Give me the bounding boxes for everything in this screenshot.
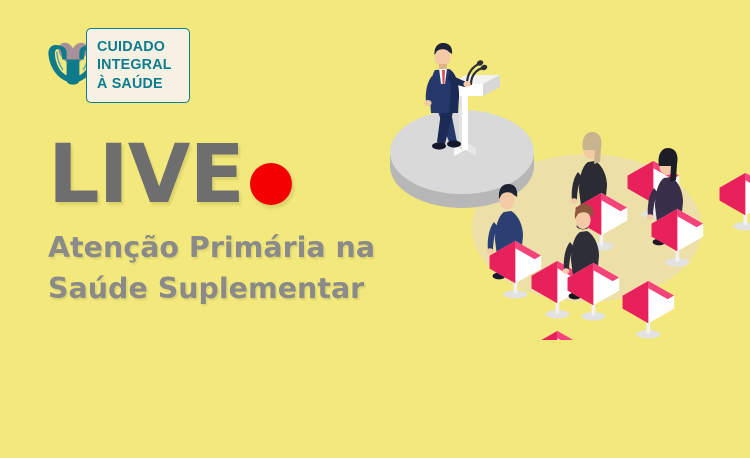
logo-line-1: CUIDADO xyxy=(97,38,189,57)
live-headline: LIVE xyxy=(48,137,292,214)
logo-line-2: INTEGRAL xyxy=(97,56,189,75)
live-event-banner: CUIDADO INTEGRAL À SAÚDE LIVE Atenção Pr… xyxy=(0,0,750,458)
logo-line-3: À SAÚDE xyxy=(97,75,189,94)
chair-front-row-left xyxy=(532,331,584,340)
logo-text-box: CUIDADO INTEGRAL À SAÚDE xyxy=(86,28,190,103)
isometric-conference-illustration xyxy=(375,0,750,340)
chair-back-right xyxy=(720,173,750,231)
event-subtitle: Atenção Primária na Saúde Suplementar xyxy=(48,228,388,310)
live-red-dot xyxy=(250,163,292,205)
brand-logo: CUIDADO INTEGRAL À SAÚDE xyxy=(42,28,192,110)
live-word: LIVE xyxy=(48,137,244,214)
